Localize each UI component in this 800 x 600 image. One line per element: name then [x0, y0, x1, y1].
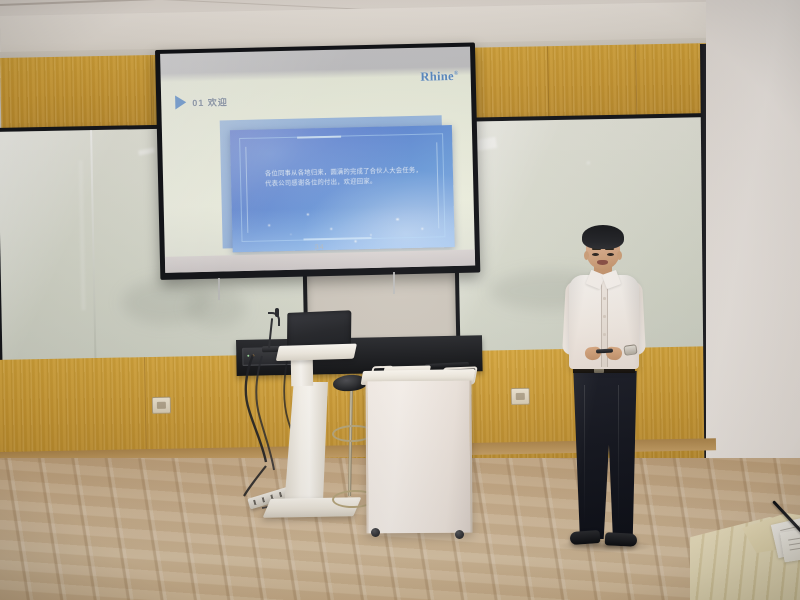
projection-surface: Rhine® 01 欢迎 各位同事从各地归来，圆满的完成了合伙人大会任务，代表公… — [160, 47, 475, 273]
presenter-trousers — [572, 371, 638, 539]
slide-page-number: 34 — [315, 244, 325, 251]
wall-outlet-right — [511, 388, 530, 405]
slide-body-text: 各位同事从各地归来，圆满的完成了合伙人大会任务，代表公司感谢各位的付出，欢迎回家… — [265, 166, 427, 190]
projection-screen: Rhine® 01 欢迎 各位同事从各地归来，圆满的完成了合伙人大会任务，代表公… — [155, 42, 480, 279]
presenter-hair — [582, 225, 624, 249]
rhine-logo-text: Rhine — [420, 69, 454, 84]
presenter — [548, 225, 670, 555]
slide-section-heading: 01 欢迎 — [189, 94, 228, 109]
presenter-shoe-right — [605, 532, 638, 547]
microphone-capsule — [275, 308, 279, 317]
photo-scene: Rhine® 01 欢迎 各位同事从各地归来，圆满的完成了合伙人大会任务，代表公… — [0, 0, 800, 600]
foreground-table — [690, 505, 800, 600]
slide-content-card: 各位同事从各地归来，圆满的完成了合伙人大会任务，代表公司感谢各位的付出，欢迎回家… — [230, 125, 455, 252]
wall-outlet-left — [152, 397, 171, 414]
presenter-mouth — [597, 260, 608, 265]
cart-caster-left — [371, 528, 380, 537]
rhine-logo: Rhine® — [420, 69, 459, 85]
triangle-bullet-icon — [175, 95, 186, 109]
cart-caster-right — [455, 530, 464, 539]
wristwatch — [623, 344, 637, 356]
lectern-column — [291, 358, 313, 386]
slide-section-label: 01 欢迎 — [192, 95, 228, 109]
rhine-logo-mark: ® — [454, 71, 459, 77]
screen-lower-band — [165, 250, 475, 273]
trouser-crease-right — [618, 385, 619, 525]
trouser-crease-left — [584, 385, 585, 525]
presenter-shoe-left — [570, 530, 601, 545]
lectern-top — [276, 344, 357, 362]
screen-tension-rod-right — [393, 272, 395, 294]
cart-body — [365, 381, 472, 534]
screen-tension-rod-left — [218, 278, 220, 300]
